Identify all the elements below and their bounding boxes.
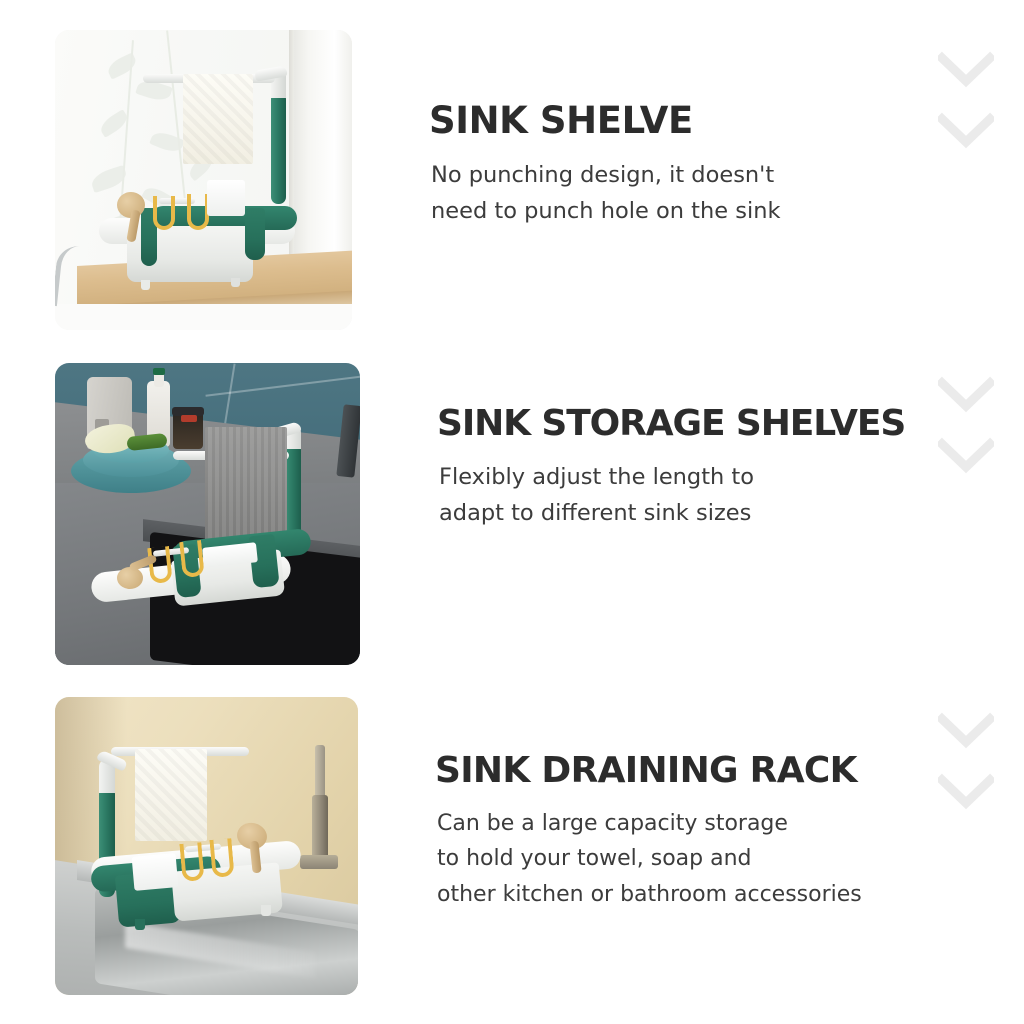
- yellow-hook: [179, 842, 204, 882]
- feature-description-2: Flexibly adjust the length to adapt to d…: [439, 459, 1014, 532]
- rack-foot: [231, 278, 240, 287]
- desc-line: other kitchen or bathroom accessories: [437, 882, 862, 907]
- product-infographic-page: SINK SHELVE No punching design, it doesn…: [0, 0, 1024, 1024]
- scene-window-sill: [55, 30, 352, 330]
- rack-basket-green-right: [245, 208, 265, 260]
- chevron-group-1: [930, 50, 1002, 172]
- yellow-hook: [209, 838, 234, 878]
- grey-towel: [205, 427, 287, 543]
- chevron-down-icon: [938, 772, 994, 812]
- chevron-down-icon: [938, 711, 994, 751]
- white-sponge: [207, 180, 245, 216]
- chevron-group-2: [930, 375, 1002, 497]
- yellow-hook: [179, 540, 205, 578]
- desc-line: adapt to different sink sizes: [439, 500, 751, 526]
- white-towel: [135, 749, 207, 841]
- product-photo-3: [55, 697, 358, 995]
- feature-title-1: SINK SHELVE: [429, 102, 1014, 141]
- chevron-down-icon: [938, 111, 994, 151]
- wall-below-sill: [55, 304, 352, 330]
- feature-row-3: SINK DRAINING RACK Can be a large capaci…: [0, 697, 1024, 995]
- white-towel: [183, 74, 253, 164]
- rack-foot: [141, 280, 150, 290]
- feature-row-2: SINK STORAGE SHELVES Flexibly adjust the…: [0, 363, 1024, 665]
- feature-text-3: SINK DRAINING RACK Can be a large capaci…: [358, 697, 1024, 913]
- feature-row-1: SINK SHELVE No punching design, it doesn…: [0, 30, 1024, 330]
- feature-description-3: Can be a large capacity storage to hold …: [437, 806, 1014, 913]
- feature-description-1: No punching design, it doesn't need to p…: [431, 157, 1014, 230]
- yellow-hook: [153, 196, 175, 230]
- rack-foot: [135, 919, 145, 930]
- desc-line: Flexibly adjust the length to: [439, 464, 754, 490]
- rack-pole: [271, 92, 286, 204]
- product-photo-2: [55, 363, 360, 665]
- faucet-base: [300, 855, 338, 869]
- chevron-group-3: [930, 711, 1002, 833]
- bottle-cap: [153, 368, 165, 375]
- jar-label: [181, 415, 197, 422]
- wooden-brush-head: [117, 567, 143, 589]
- feature-title-2: SINK STORAGE SHELVES: [437, 405, 1014, 443]
- desc-line: Can be a large capacity storage: [437, 811, 788, 836]
- yellow-hook: [187, 194, 209, 230]
- desc-line: No punching design, it doesn't: [431, 162, 774, 188]
- chevron-down-icon: [938, 375, 994, 415]
- desc-line: need to punch hole on the sink: [431, 198, 781, 224]
- feature-text-1: SINK SHELVE No punching design, it doesn…: [352, 30, 1024, 230]
- faucet-arc: [55, 244, 97, 310]
- feature-text-2: SINK STORAGE SHELVES Flexibly adjust the…: [360, 363, 1024, 532]
- white-sponge: [132, 853, 179, 891]
- desc-line: to hold your towel, soap and: [437, 846, 751, 871]
- product-photo-1: [55, 30, 352, 330]
- rack-foot: [261, 905, 271, 916]
- chevron-down-icon: [938, 436, 994, 476]
- scene-grey-countertop: [55, 363, 360, 665]
- faucet-neck: [315, 745, 325, 801]
- feature-title-3: SINK DRAINING RACK: [435, 752, 1014, 790]
- chevron-down-icon: [938, 50, 994, 90]
- scene-steel-sink: [55, 697, 358, 995]
- yellow-hook: [147, 546, 173, 584]
